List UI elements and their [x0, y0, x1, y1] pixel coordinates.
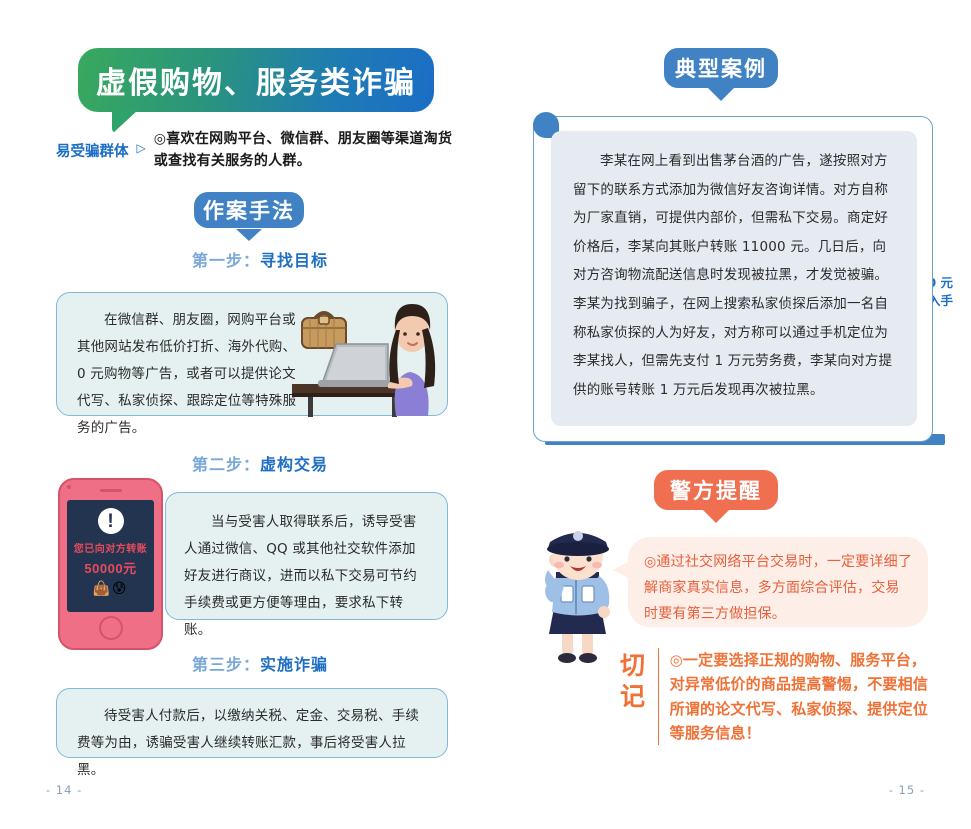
step-3-number: 第三步： — [192, 655, 260, 674]
method-banner-tail — [236, 229, 262, 241]
police-reminder-label: 警方提醒 — [670, 475, 762, 505]
page-number-left: - 14 - — [46, 783, 82, 797]
step-2-box: 当与受害人取得联系后，诱导受害人通过微信、QQ 或其他社交软件添加好友进行商议，… — [165, 492, 448, 620]
step-2-number: 第二步： — [192, 455, 260, 474]
phone-illustration: ! 您已向对方转账 50000元 👜😰 — [58, 478, 163, 650]
case-banner-tail — [708, 88, 734, 101]
police-bubble-tail — [613, 561, 630, 579]
step-1-number: 第一步： — [192, 251, 260, 270]
phone-home-button-icon — [99, 616, 123, 640]
laptop-icon — [318, 344, 396, 387]
police-reminder-banner: 警方提醒 — [652, 468, 780, 512]
police-officer-mascot — [512, 512, 642, 664]
remember-divider — [658, 648, 659, 745]
police-reminder-tail — [703, 510, 729, 523]
step-2-name: 虚构交易 — [260, 455, 328, 474]
alert-icon: ! — [98, 508, 124, 534]
shopping-illustration — [292, 288, 452, 418]
police-reminder-bubble: ◎通过社交网络平台交易时，一定要详细了解商家真实信息，多方面综合评估，交易时要有… — [628, 537, 928, 627]
phone-screen: ! 您已向对方转账 50000元 👜😰 — [67, 500, 154, 612]
police-reminder-body: ◎通过社交网络平台交易时，一定要详细了解商家真实信息，多方面综合评估，交易时要有… — [644, 550, 912, 628]
step-1-body: 在微信群、朋友圈，网购平台或其他网站发布低价打折、海外代购、0 元购物等广告，或… — [77, 307, 297, 442]
phone-speaker-icon — [100, 489, 122, 492]
step-1-heading: 第一步：寻找目标 — [192, 247, 328, 271]
brochure-page: 虚假购物、服务类诈骗 易受骗群体 ▷ ◎喜欢在网购平台、微信群、朋友圈等渠道淘货… — [0, 0, 971, 829]
step-1-name: 寻找目标 — [260, 251, 328, 270]
page-number-right: - 15 - — [889, 783, 925, 797]
handbag-icon — [302, 313, 346, 348]
step-3-box: 待受害人付款后，以缴纳关税、定金、交易税、手续费等为由，诱骗受害人继续转账汇款，… — [56, 688, 448, 758]
victim-group-row: 易受骗群体 ▷ ◎喜欢在网购平台、微信群、朋友圈等渠道淘货或查找有关服务的人群。 — [56, 129, 456, 172]
victim-group-text: ◎喜欢在网购平台、微信群、朋友圈等渠道淘货或查找有关服务的人群。 — [154, 129, 456, 172]
case-body: 李某在网上看到出售茅台酒的广告，遂按照对方留下的联系方式添加为微信好友咨询详情。… — [573, 147, 895, 404]
page-title: 虚假购物、服务类诈骗 — [96, 58, 416, 102]
phone-transfer-amount: 50000元 — [84, 558, 136, 577]
method-banner-label: 作案手法 — [203, 195, 295, 225]
person-illustration — [388, 304, 435, 416]
step-3-body: 待受害人付款后，以缴纳关税、定金、交易税、手续费等为由，诱骗受害人继续转账汇款，… — [77, 703, 427, 784]
case-banner: 典型案例 — [662, 46, 780, 90]
case-text-box: 李某在网上看到出售茅台酒的广告，遂按照对方留下的联系方式添加为微信好友咨询详情。… — [551, 131, 917, 426]
phone-emoji: 👜😰 — [92, 580, 128, 597]
remember-label: 切 记 — [620, 648, 658, 713]
step-3-name: 实施诈骗 — [260, 655, 328, 674]
phone-camera-icon — [67, 485, 71, 489]
triangle-right-icon: ▷ — [137, 129, 146, 155]
step-3-heading: 第三步：实施诈骗 — [192, 651, 328, 675]
page-title-banner: 虚假购物、服务类诈骗 — [76, 46, 436, 114]
step-2-heading: 第二步：虚构交易 — [192, 451, 328, 475]
case-banner-label: 典型案例 — [675, 53, 767, 83]
remember-block: 切 记 ◎一定要选择正规的购物、服务平台，对异常低价的商品提高警惕，不要相信所谓… — [620, 648, 935, 745]
method-banner: 作案手法 — [192, 190, 306, 230]
phone-transfer-label: 您已向对方转账 — [74, 540, 148, 555]
step-2-body: 当与受害人取得联系后，诱导受害人通过微信、QQ 或其他社交软件添加好友进行商议，… — [184, 509, 429, 644]
remember-body: ◎一定要选择正规的购物、服务平台，对异常低价的商品提高警惕，不要相信所谓的论文代… — [670, 648, 935, 745]
victim-group-label: 易受骗群体 — [56, 129, 129, 161]
